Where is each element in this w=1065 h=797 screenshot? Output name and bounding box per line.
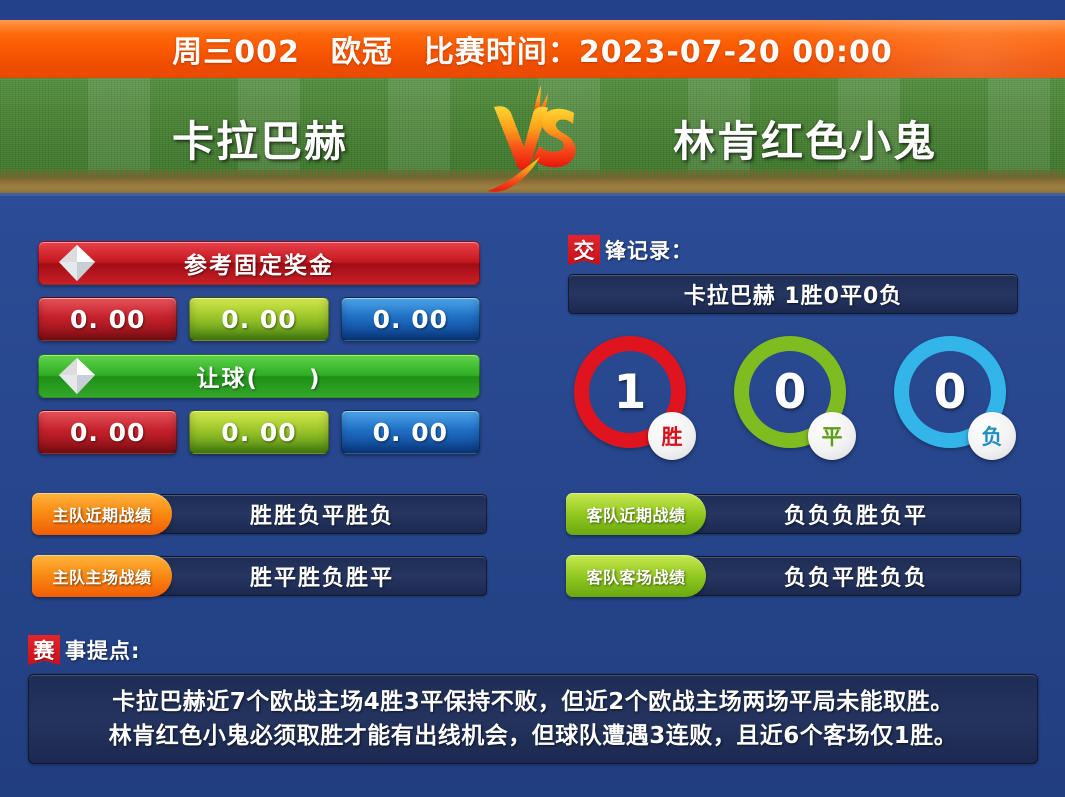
main-content: 参考固定奖金 0. 00 0. 00 0. 00 让球( ) 0. 00 0. … <box>0 193 1065 797</box>
diamond-gem-icon <box>55 354 99 398</box>
away-recent-form-value: 负负负胜负平 <box>691 494 1021 534</box>
match-notes: 赛 事提点: 卡拉巴赫近7个欧战主场4胜3平保持不败，但近2个欧战主场两场平局未… <box>28 635 1038 764</box>
teams-banner: 卡拉巴赫 林肯红色小鬼 <box>0 78 1065 193</box>
notes-flag-icon: 赛 <box>28 635 60 665</box>
h2h-summary: 卡拉巴赫 1胜0平0负 <box>568 274 1018 314</box>
h2h-ring-loss: 0 负 <box>894 336 1012 458</box>
odds-panel: 参考固定奖金 0. 00 0. 00 0. 00 让球( ) 0. 00 0. … <box>38 241 480 454</box>
loss-badge: 负 <box>968 412 1016 460</box>
handicap-win-odds[interactable]: 0. 00 <box>38 410 177 454</box>
notes-title-text: 事提点: <box>65 635 140 665</box>
h2h-title: 交 锋记录： <box>568 235 1018 265</box>
home-team-name: 卡拉巴赫 <box>60 108 460 169</box>
fixed-bonus-win-odds[interactable]: 0. 00 <box>38 297 177 341</box>
head-to-head-panel: 交 锋记录： 卡拉巴赫 1胜0平0负 1 胜 0 平 0 负 <box>568 235 1018 458</box>
fixed-bonus-header-label: 参考固定奖金 <box>184 246 334 280</box>
diamond-gem-icon <box>55 241 99 285</box>
home-venue-form-tab[interactable]: 主队主场战绩 <box>32 555 172 597</box>
away-venue-form-row: 客队客场战绩 负负平胜负负 <box>566 555 1021 597</box>
handicap-row: 0. 00 0. 00 0. 00 <box>38 410 480 454</box>
match-header-title: 周三002 欧冠 比赛时间：2023-07-20 00:00 <box>172 27 892 71</box>
match-header-bar: 周三002 欧冠 比赛时间：2023-07-20 00:00 <box>0 20 1065 78</box>
notes-line-2: 林肯红色小鬼必须取胜才能有出线机会，但球队遭遇3连败，且近6个客场仅1胜。 <box>43 719 1023 753</box>
home-recent-form-tab[interactable]: 主队近期战绩 <box>32 493 172 535</box>
away-venue-form-value: 负负平胜负负 <box>691 556 1021 596</box>
fixed-bonus-draw-odds[interactable]: 0. 00 <box>189 297 328 341</box>
h2h-title-text: 锋记录： <box>605 235 693 265</box>
handicap-header-label: 让球( ) <box>196 359 321 393</box>
home-venue-form-row: 主队主场战绩 胜平胜负胜平 <box>32 555 487 597</box>
win-badge: 胜 <box>648 412 696 460</box>
notes-line-1: 卡拉巴赫近7个欧战主场4胜3平保持不败，但近2个欧战主场两场平局未能取胜。 <box>43 685 1023 719</box>
vs-flame-icon <box>478 83 588 193</box>
home-form-column: 主队近期战绩 胜胜负平胜负 主队主场战绩 胜平胜负胜平 <box>32 493 487 617</box>
home-recent-form-value: 胜胜负平胜负 <box>157 494 487 534</box>
fixed-bonus-header: 参考固定奖金 <box>38 241 480 285</box>
away-team-name: 林肯红色小鬼 <box>605 108 1005 169</box>
fixed-bonus-loss-odds[interactable]: 0. 00 <box>341 297 480 341</box>
away-recent-form-tab[interactable]: 客队近期战绩 <box>566 493 706 535</box>
handicap-header: 让球( ) <box>38 354 480 398</box>
home-recent-form-row: 主队近期战绩 胜胜负平胜负 <box>32 493 487 535</box>
away-form-column: 客队近期战绩 负负负胜负平 客队客场战绩 负负平胜负负 <box>566 493 1021 617</box>
h2h-ring-win: 1 胜 <box>574 336 692 458</box>
h2h-rings: 1 胜 0 平 0 负 <box>568 336 1018 458</box>
notes-box: 卡拉巴赫近7个欧战主场4胜3平保持不败，但近2个欧战主场两场平局未能取胜。 林肯… <box>28 674 1038 764</box>
notes-title: 赛 事提点: <box>28 635 1038 665</box>
away-venue-form-tab[interactable]: 客队客场战绩 <box>566 555 706 597</box>
draw-badge: 平 <box>808 412 856 460</box>
home-venue-form-value: 胜平胜负胜平 <box>157 556 487 596</box>
h2h-ring-draw: 0 平 <box>734 336 852 458</box>
handicap-draw-odds[interactable]: 0. 00 <box>189 410 328 454</box>
h2h-flag-icon: 交 <box>568 235 600 265</box>
fixed-bonus-row: 0. 00 0. 00 0. 00 <box>38 297 480 341</box>
away-recent-form-row: 客队近期战绩 负负负胜负平 <box>566 493 1021 535</box>
handicap-loss-odds[interactable]: 0. 00 <box>341 410 480 454</box>
